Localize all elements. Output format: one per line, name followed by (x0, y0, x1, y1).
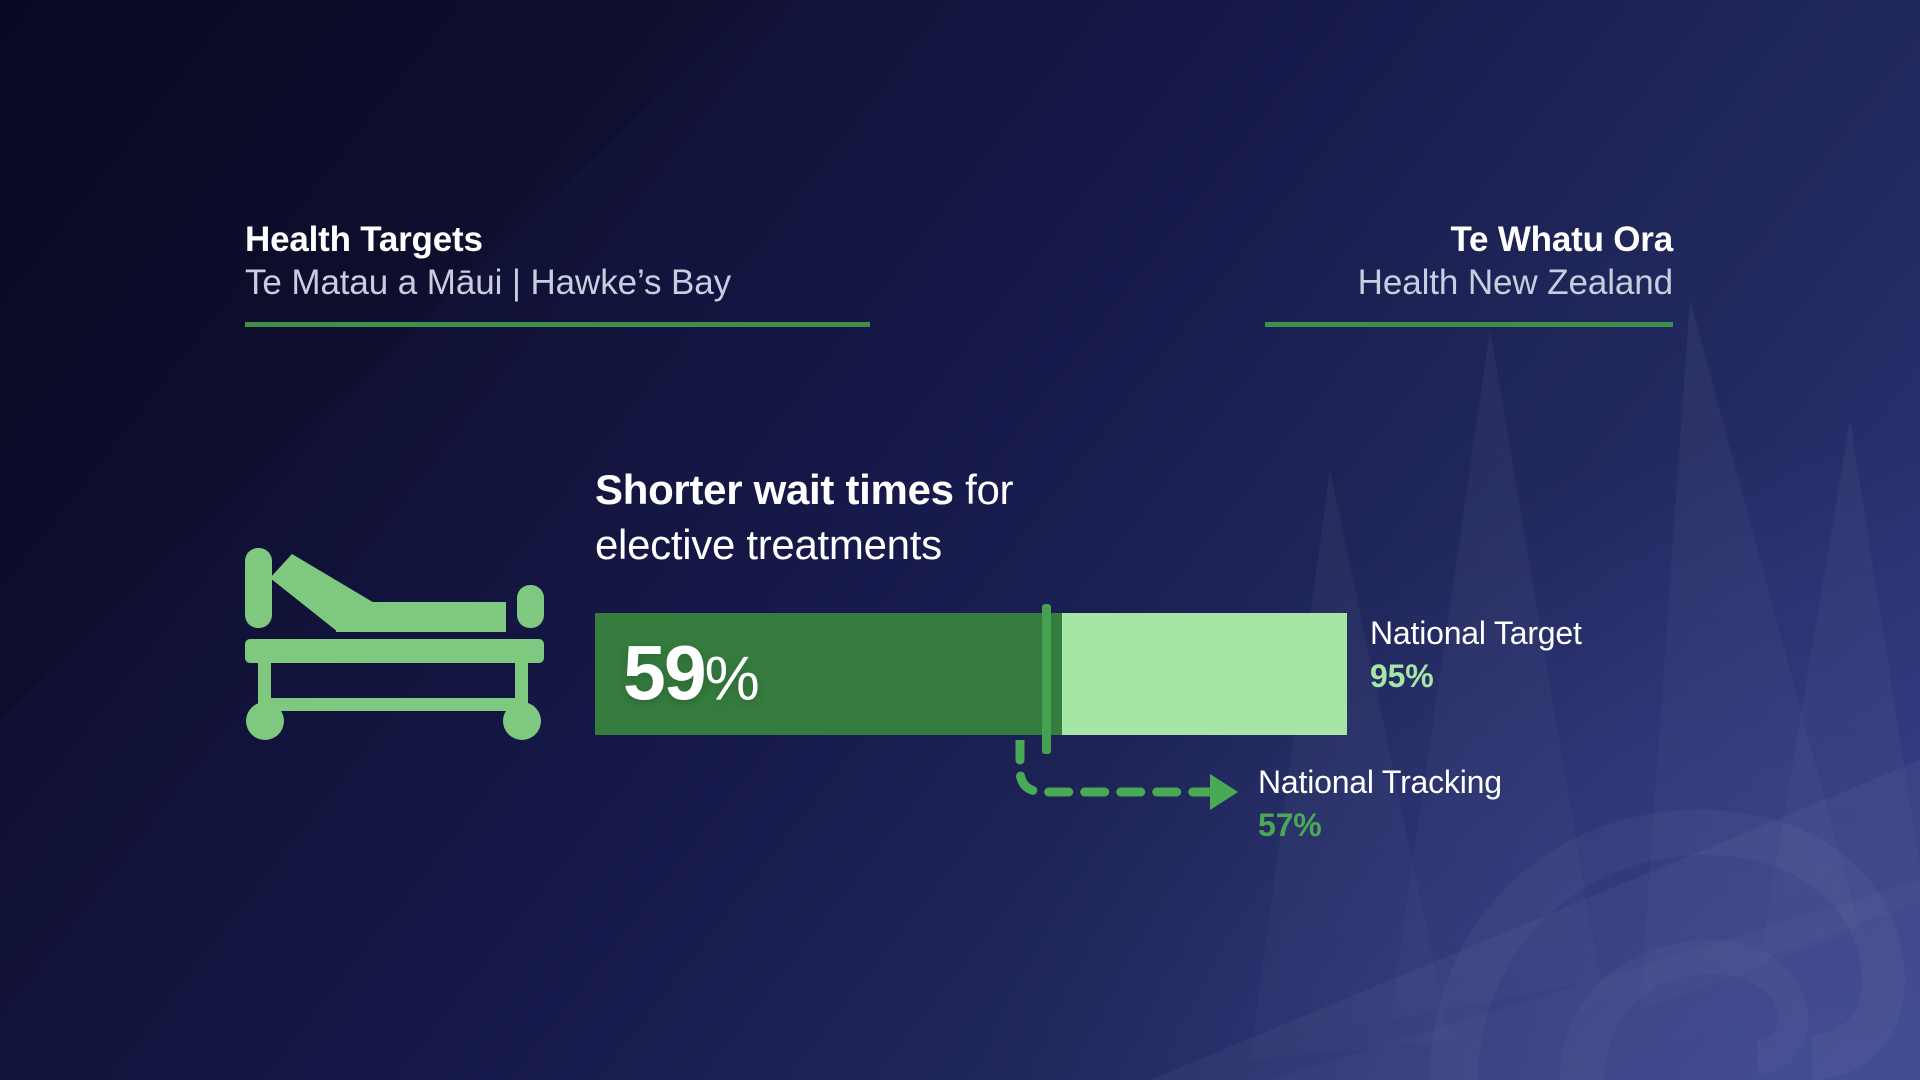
legend-national-tracking: National Tracking 57% (1258, 764, 1502, 844)
header-left-title: Health Targets (245, 220, 870, 260)
header-right: Te Whatu Ora Health New Zealand (1265, 220, 1673, 327)
header-right-rule (1265, 322, 1673, 327)
hospital-bed-icon (243, 540, 553, 740)
headline-second-line: elective treatments (595, 521, 942, 568)
bar-value-label: 59% (623, 636, 759, 713)
tracking-arrow-icon (1010, 740, 1270, 820)
headline: Shorter wait times for elective treatmen… (595, 463, 1295, 572)
national-tracking-marker (1042, 604, 1051, 754)
headline-rest: for (954, 466, 1013, 513)
legend-national-tracking-label: National Tracking (1258, 764, 1502, 801)
header-right-subtitle: Health New Zealand (1265, 260, 1673, 306)
legend-national-target: National Target 95% (1370, 615, 1582, 695)
header-left-rule (245, 322, 870, 327)
legend-national-target-label: National Target (1370, 615, 1582, 652)
headline-bold: Shorter wait times (595, 466, 954, 513)
bar-value-number: 59 (623, 631, 705, 717)
header-left-subtitle: Te Matau a Māui | Hawke’s Bay (245, 260, 870, 306)
legend-national-tracking-value: 57% (1258, 807, 1502, 844)
legend-national-target-value: 95% (1370, 658, 1582, 695)
bar-value-percent-sign: % (705, 645, 759, 714)
progress-bar: 59% (595, 613, 1347, 735)
header-right-title: Te Whatu Ora (1265, 220, 1673, 260)
header-left: Health Targets Te Matau a Māui | Hawke’s… (245, 220, 870, 327)
infographic-canvas: Health Targets Te Matau a Māui | Hawke’s… (0, 0, 1920, 1080)
